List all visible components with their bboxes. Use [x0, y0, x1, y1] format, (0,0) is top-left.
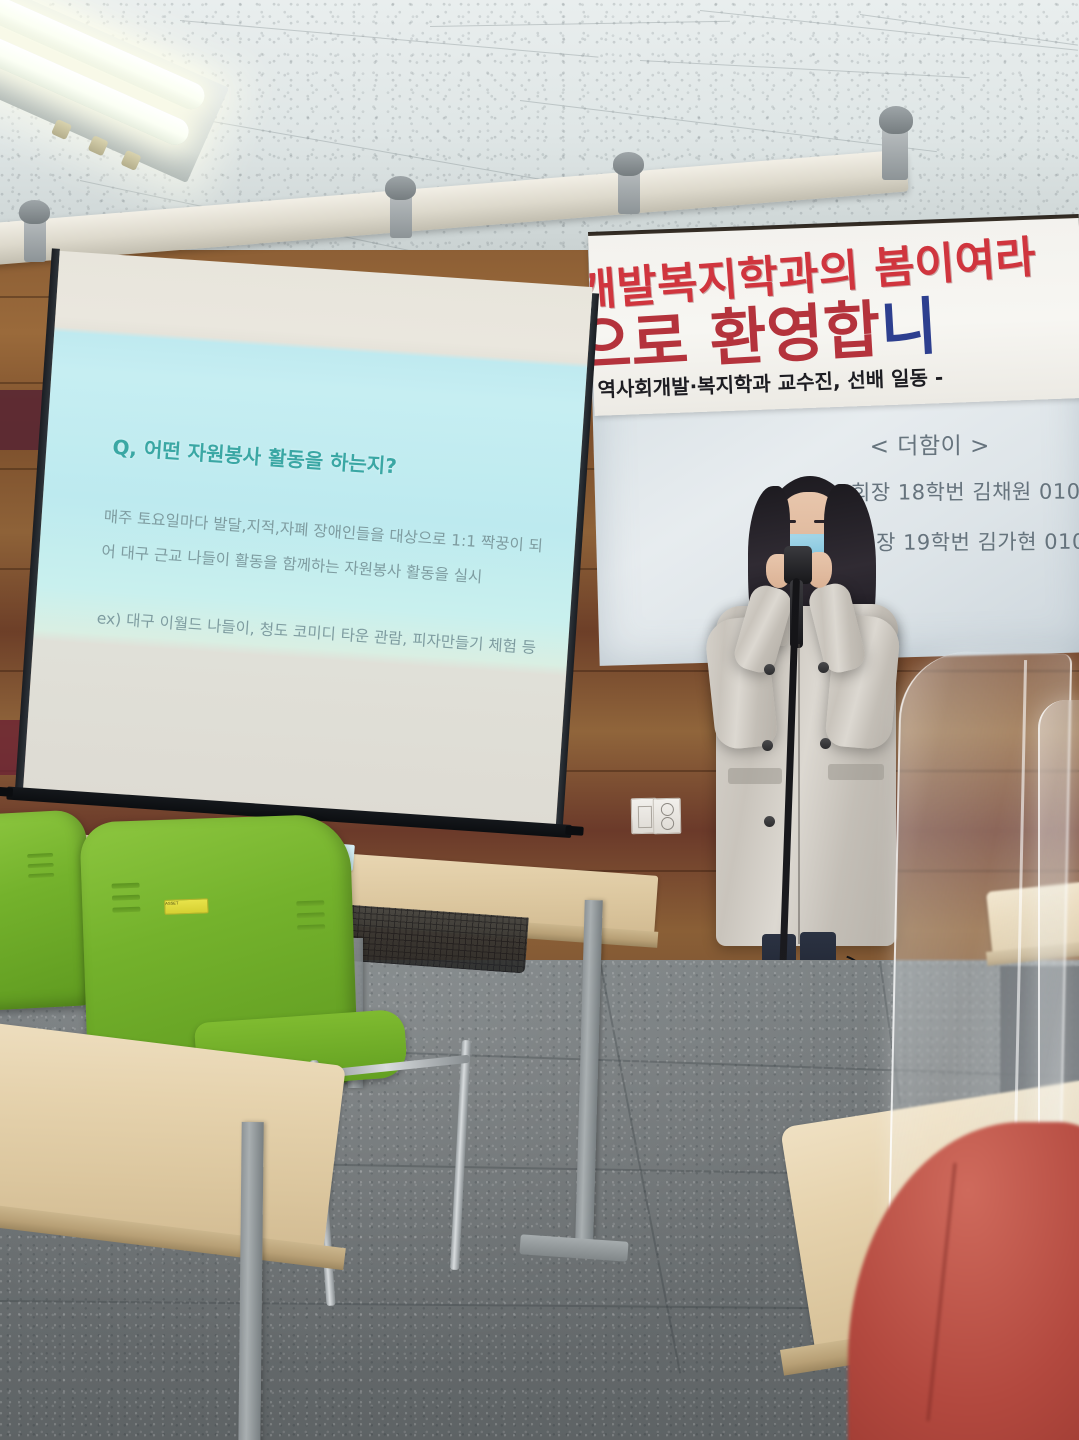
desk-front-leg [238, 1122, 263, 1440]
screen-mount-bracket [882, 128, 908, 180]
chair-vent-slot [297, 924, 325, 930]
chair-vent-slot [28, 873, 54, 878]
banner-line-2-blue: 니 [878, 290, 939, 366]
coat-pocket-right [828, 764, 884, 780]
projection-screen: Q, 어떤 자원봉사 활동을 하는지? 매주 토요일마다 발달,지적,자폐 장애… [0, 246, 633, 862]
chair-vent-slot [27, 853, 53, 858]
classroom-photo: < 더함이 > 회장 18학번 김채원 010-82 부회장 19학번 김가현 … [0, 0, 1079, 1440]
chair-vent-slot [112, 907, 140, 913]
chair-vent-slot [112, 895, 140, 901]
slide-question-title: Q, 어떤 자원봉사 활동을 하는지? [112, 431, 398, 479]
welcome-banner: 개발복지학과의 봄이여라 으로 환영합니 역사회개발·복지학과 교수진, 선배 … [588, 218, 1079, 416]
outlet-socket[interactable] [661, 803, 674, 816]
sweater-seam [926, 1163, 956, 1422]
coat-pocket-left [728, 768, 782, 784]
coat-button [820, 738, 831, 749]
screen-mount-knob [19, 200, 50, 224]
coat-button [764, 664, 775, 675]
coat-button [764, 816, 775, 827]
screen-mount-knob [879, 106, 913, 134]
screen-surface: Q, 어떤 자원봉사 활동을 하는지? 매주 토요일마다 발달,지적,자폐 장애… [23, 251, 593, 828]
chair-vent-slot [28, 863, 54, 868]
chair-left-backrest[interactable] [0, 809, 95, 1011]
screen-mount-bracket [390, 192, 412, 238]
screen-mount-bracket [618, 168, 640, 214]
screen-mount-knob [613, 152, 644, 176]
chair-vent-slot [297, 912, 325, 918]
chair-vent-slot [296, 900, 324, 906]
whiteboard-heading: < 더함이 > [870, 426, 990, 461]
coat-button [762, 740, 773, 751]
slide-example-line: ex) 대구 이월드 나들이, 청도 코미디 타운 관람, 피자만들기 체험 등 [96, 606, 537, 658]
coat-placket [798, 644, 800, 944]
presentation-slide: Q, 어떤 자원봉사 활동을 하는지? 매주 토요일마다 발달,지적,자폐 장애… [76, 334, 621, 758]
chair-asset-sticker: ASSET [164, 898, 208, 915]
screen-mount-knob [385, 176, 416, 200]
power-outlet-plate[interactable] [653, 798, 682, 834]
switch-rocker[interactable] [638, 806, 652, 828]
outlet-socket[interactable] [661, 817, 674, 830]
coat-button [818, 662, 829, 673]
chair-vent-slot [112, 883, 140, 889]
